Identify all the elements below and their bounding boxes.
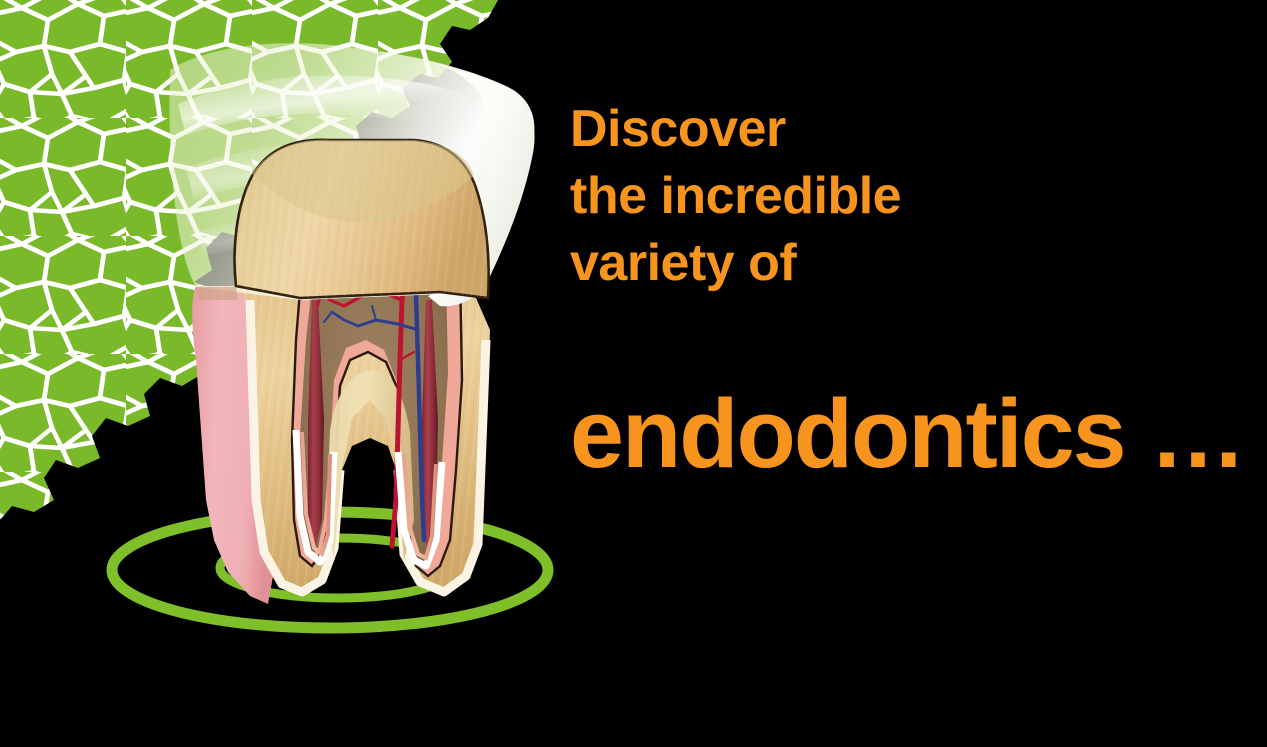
headline-line-3: variety of: [570, 230, 1260, 297]
tooth-crown-enamel: [169, 43, 534, 306]
feature-word: endodontics …: [570, 382, 1245, 486]
headline-line-1: Discover: [570, 96, 1260, 163]
gum-crest: [196, 287, 238, 300]
headline-block: Discover the incredible variety of: [570, 96, 1260, 297]
headline-line-2: the incredible: [570, 163, 1260, 230]
banner-canvas: Discover the incredible variety of endod…: [0, 0, 1267, 747]
